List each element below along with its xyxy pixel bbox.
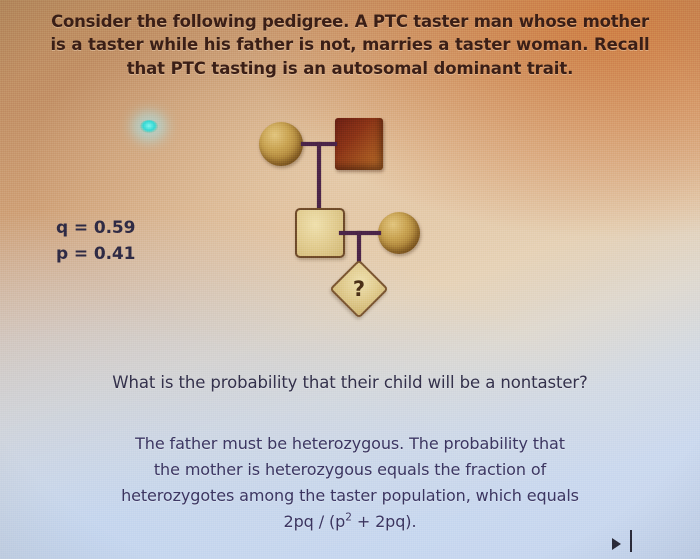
question-text: What is the probability that their child… bbox=[18, 371, 682, 394]
prompt-line-3: that PTC tasting is an autosomal dominan… bbox=[18, 57, 682, 80]
pedigree-gen1-father-square bbox=[335, 118, 383, 170]
pedigree-child-unknown-label: ? bbox=[340, 270, 378, 308]
allele-q-value: q = 0.59 bbox=[56, 215, 236, 241]
formula-exponent: 2 bbox=[345, 511, 352, 523]
pedigree-gen2-wife-circle bbox=[378, 212, 420, 254]
slide-screen: Consider the following pedigree. A PTC t… bbox=[0, 0, 700, 559]
explanation-text: The father must be heterozygous. The pro… bbox=[40, 431, 660, 535]
formula-prefix: 2pq / (p bbox=[284, 512, 346, 531]
formula-suffix: + 2pq). bbox=[352, 512, 417, 531]
pedigree-gen2-son-square bbox=[295, 208, 345, 258]
prompt-text: Consider the following pedigree. A PTC t… bbox=[18, 10, 682, 80]
explanation-line-2: the mother is heterozygous equals the fr… bbox=[40, 457, 660, 483]
pedigree-descent-line-gen1 bbox=[317, 142, 321, 210]
pedigree-gen1-mother-circle bbox=[259, 122, 303, 166]
explanation-line-1: The father must be heterozygous. The pro… bbox=[40, 431, 660, 457]
explanation-line-3: heterozygotes among the taster populatio… bbox=[40, 483, 660, 509]
pedigree-gen3-child-diamond: ? bbox=[329, 259, 388, 318]
allele-frequency-block: q = 0.59 p = 0.41 bbox=[56, 215, 236, 268]
prompt-line-2: is a taster while his father is not, mar… bbox=[18, 33, 682, 56]
play-icon[interactable] bbox=[612, 538, 621, 550]
allele-p-value: p = 0.41 bbox=[56, 241, 236, 267]
pedigree-diagram: ? bbox=[245, 108, 445, 323]
explanation-formula: 2pq / (p2 + 2pq). bbox=[40, 509, 660, 535]
prompt-line-1: Consider the following pedigree. A PTC t… bbox=[18, 10, 682, 33]
pointer-dot-icon bbox=[140, 120, 158, 133]
text-cursor-icon bbox=[630, 530, 632, 552]
